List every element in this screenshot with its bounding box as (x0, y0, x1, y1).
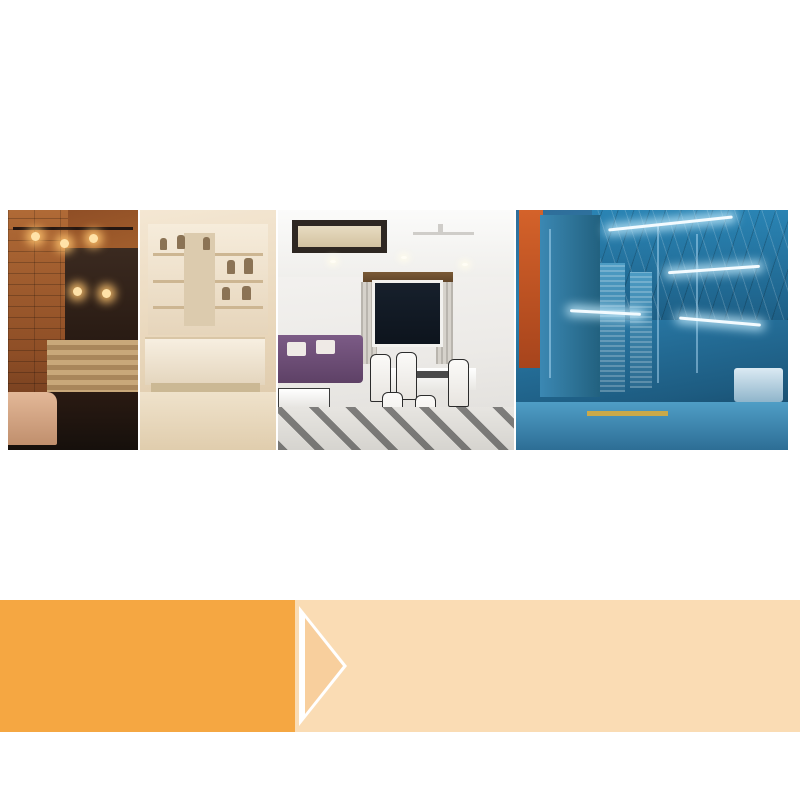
bulb-icon (73, 287, 82, 296)
bulb-icon (89, 234, 98, 243)
summary-banner (0, 600, 800, 732)
category-row (8, 452, 792, 582)
roller-door (630, 272, 652, 387)
window (372, 280, 443, 347)
bulb-icon (60, 239, 69, 248)
title-area (0, 0, 800, 160)
banner-description-area (290, 600, 800, 732)
ceiling-coffer (292, 220, 386, 254)
cool-light-photo (514, 210, 788, 450)
amber-light-photo (8, 210, 138, 450)
warm-light-photo (138, 210, 276, 450)
warehouse-floor (516, 402, 788, 450)
bulb-icon (31, 232, 40, 241)
patterned-floor (278, 407, 514, 450)
track-rail (13, 227, 133, 230)
white-light-photo (276, 210, 514, 450)
roller-door (600, 263, 624, 393)
chevron-right-icon (289, 600, 351, 732)
infographic-page (0, 0, 800, 800)
kelvin-scale-bar (8, 168, 792, 210)
fan-hub (438, 224, 443, 234)
banner-highlight (0, 600, 290, 732)
settee (145, 337, 265, 385)
wood-counter (47, 340, 138, 398)
shelving-unit (148, 224, 268, 334)
photo-row (8, 210, 792, 450)
dining-chair (448, 359, 469, 407)
truck (734, 368, 783, 402)
bulb-icon (102, 289, 111, 298)
yellow-guard-rail (587, 411, 669, 416)
rug (140, 392, 276, 450)
sofa (8, 392, 57, 445)
